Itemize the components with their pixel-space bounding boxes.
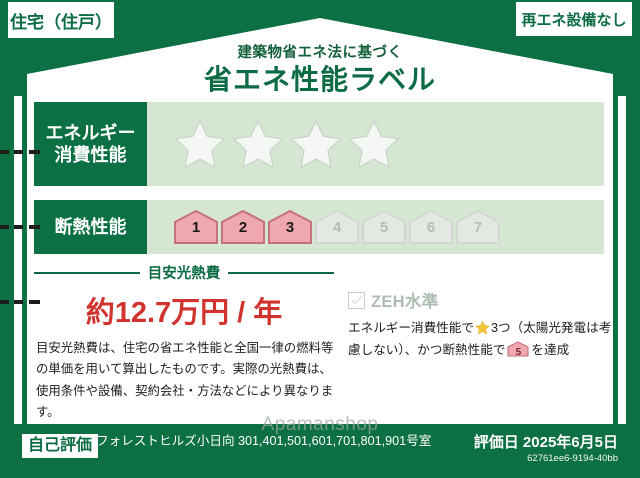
insulation-grade-value: 1 — [173, 219, 219, 236]
building-type-tag: 住宅（住戸） — [8, 2, 114, 38]
edge-dash-mark-5 — [14, 225, 23, 229]
self-evaluation-badge: 自己評価 — [22, 434, 98, 458]
star-rating — [173, 118, 401, 170]
empty-checkbox-icon — [348, 292, 365, 309]
star-icon — [231, 118, 285, 170]
checkbox-faint-mark — [351, 294, 363, 306]
insulation-grade-scale: 1234567 — [173, 209, 501, 245]
inline-grade-badge-value: 5 — [507, 344, 529, 362]
star-icon — [347, 118, 401, 170]
insulation-grade-value: 7 — [455, 219, 501, 236]
energy-performance-value-block — [147, 102, 604, 186]
zeh-text-part1: エネルギー消費性能で — [348, 321, 474, 335]
utility-cost-heading: 目安光熱費 — [34, 262, 334, 283]
energy-performance-label: 住宅（住戸） 再エネ設備なし 建築物省エネ法に基づく 省エネ性能ラベル エネルギ… — [0, 0, 640, 478]
edge-dash-mark-1 — [0, 150, 9, 154]
star-icon — [173, 118, 227, 170]
insulation-grade-4: 4 — [314, 209, 360, 245]
star-icon — [289, 118, 343, 170]
zeh-standard-text: エネルギー消費性能で3つ（太陽光発電は考慮しない）、かつ断熱性能で5を達成 — [348, 317, 614, 362]
edge-dash-mark-2 — [14, 150, 23, 154]
zeh-standard-block: ZEH水準 エネルギー消費性能で3つ（太陽光発電は考慮しない）、かつ断熱性能で5… — [348, 288, 614, 362]
edge-dash-mark-4 — [0, 225, 9, 229]
insulation-grade-value: 4 — [314, 219, 360, 236]
edge-dash-mark-9 — [29, 300, 40, 304]
energy-performance-row: エネルギー 消費性能 — [34, 102, 604, 186]
utility-cost-heading-label: 目安光熱費 — [148, 262, 221, 283]
utility-cost-rule-left — [34, 272, 140, 274]
energy-performance-label-block: エネルギー 消費性能 — [34, 102, 147, 186]
insulation-grade-2: 2 — [220, 209, 266, 245]
utility-cost-description: 目安光熱費は、住宅の省エネ性能と全国一律の燃料等の単価を用いて算出したものです。… — [36, 338, 344, 423]
edge-dash-mark-8 — [14, 300, 23, 304]
insulation-grade-1: 1 — [173, 209, 219, 245]
utility-cost-block: 目安光熱費 約12.7万円 / 年 — [34, 262, 334, 331]
energy-performance-label-line2: 消費性能 — [55, 144, 127, 167]
edge-dash-mark-7 — [0, 300, 9, 304]
watermark: Apamanshop — [0, 414, 640, 436]
edge-dash-mark-3 — [29, 150, 40, 154]
zeh-standard-title: ZEH水準 — [371, 288, 439, 312]
utility-cost-amount: 約12.7万円 / 年 — [34, 289, 334, 331]
star-icon — [475, 320, 490, 335]
building-type-tag-label: 住宅（住戸） — [10, 8, 112, 33]
zeh-standard-header: ZEH水準 — [348, 288, 614, 312]
energy-performance-label-line1: エネルギー — [46, 122, 136, 145]
edge-dash-mark-6 — [29, 225, 40, 229]
insulation-performance-label-block: 断熱性能 — [34, 200, 147, 254]
evaluation-id: 62761ee6-9194-40bb — [527, 453, 618, 464]
insulation-grade-7: 7 — [455, 209, 501, 245]
insulation-grade-5: 5 — [361, 209, 407, 245]
insulation-performance-row: 断熱性能 1234567 — [34, 200, 604, 254]
insulation-grade-value: 2 — [220, 219, 266, 236]
renewable-equipment-tag-label: 再エネ設備なし — [521, 9, 626, 30]
insulation-grade-value: 6 — [408, 219, 454, 236]
utility-cost-rule-right — [228, 272, 334, 274]
inline-grade-badge: 5 — [507, 341, 529, 357]
insulation-performance-label-line1: 断熱性能 — [55, 216, 127, 239]
renewable-equipment-tag: 再エネ設備なし — [516, 2, 632, 36]
zeh-text-part3: を達成 — [531, 343, 569, 357]
insulation-performance-value-block: 1234567 — [147, 200, 604, 254]
insulation-grade-value: 5 — [361, 219, 407, 236]
insulation-grade-value: 3 — [267, 219, 313, 236]
insulation-grade-3: 3 — [267, 209, 313, 245]
label-title: 省エネ性能ラベル — [0, 58, 640, 98]
insulation-grade-6: 6 — [408, 209, 454, 245]
